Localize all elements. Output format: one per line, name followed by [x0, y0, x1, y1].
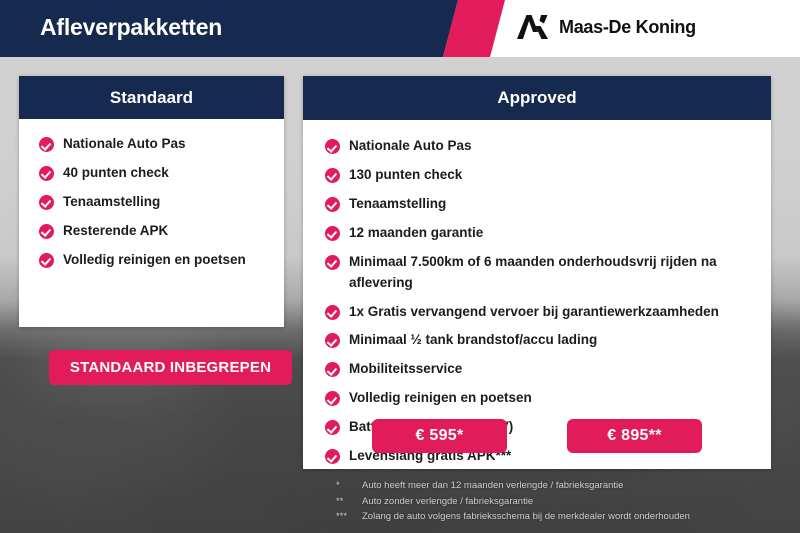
price-button-895[interactable]: € 895** [567, 419, 702, 453]
footnote-marker: ** [336, 494, 362, 510]
check-circle-icon [325, 139, 340, 154]
list-item: 40 punten check [39, 163, 284, 184]
check-circle-icon [39, 253, 54, 268]
footnote-row: *** Zolang de auto volgens fabrieksschem… [336, 509, 776, 525]
feature-label: Resterende APK [63, 221, 168, 242]
check-circle-icon [325, 197, 340, 212]
list-item: Volledig reinigen en poetsen [39, 250, 284, 271]
check-circle-icon [325, 168, 340, 183]
footnote-text: Zolang de auto volgens fabrieksschema bi… [362, 509, 776, 525]
feature-label: Tenaamstelling [349, 194, 446, 215]
card-title-approved: Approved [303, 76, 771, 120]
price-button-row: € 595* € 895** [303, 419, 771, 453]
check-circle-icon [39, 166, 54, 181]
brand-name: Maas-De Koning [559, 17, 696, 38]
feature-label: Mobiliteitsservice [349, 359, 462, 380]
package-card-standaard: Standaard Nationale Auto Pas 40 punten c… [19, 76, 284, 327]
list-item: Minimaal ½ tank brandstof/accu lading [325, 330, 771, 351]
list-item: Minimaal 7.500km of 6 maanden onderhouds… [325, 252, 771, 294]
check-circle-icon [325, 305, 340, 320]
list-item: Mobiliteitsservice [325, 359, 771, 380]
feature-label: 40 punten check [63, 163, 169, 184]
feature-label: Minimaal 7.500km of 6 maanden onderhouds… [349, 252, 771, 294]
list-item: Nationale Auto Pas [39, 134, 284, 155]
price-button-595[interactable]: € 595* [372, 419, 507, 453]
footnotes: * Auto heeft meer dan 12 maanden verleng… [336, 478, 776, 525]
list-item: 1x Gratis vervangend vervoer bij garanti… [325, 302, 771, 323]
feature-label: Nationale Auto Pas [349, 136, 472, 157]
feature-label: 1x Gratis vervangend vervoer bij garanti… [349, 302, 719, 323]
footnote-text: Auto zonder verlengde / fabrieksgarantie [362, 494, 776, 510]
list-item: Tenaamstelling [39, 192, 284, 213]
brand-logo: Maas-De Koning [516, 12, 696, 42]
card-body-standaard: Nationale Auto Pas 40 punten check Tenaa… [19, 119, 284, 271]
card-title-standaard: Standaard [19, 76, 284, 119]
footnote-row: ** Auto zonder verlengde / fabrieksgaran… [336, 494, 776, 510]
package-card-approved: Approved Nationale Auto Pas 130 punten c… [303, 76, 771, 469]
check-circle-icon [39, 137, 54, 152]
feature-list-approved: Nationale Auto Pas 130 punten check Tena… [303, 120, 771, 467]
list-item: Resterende APK [39, 221, 284, 242]
page-title: Afleverpakketten [40, 14, 222, 41]
list-item: 130 punten check [325, 165, 771, 186]
check-circle-icon [325, 226, 340, 241]
feature-label: Minimaal ½ tank brandstof/accu lading [349, 330, 597, 351]
check-circle-icon [325, 391, 340, 406]
footnote-row: * Auto heeft meer dan 12 maanden verleng… [336, 478, 776, 494]
feature-label: 130 punten check [349, 165, 462, 186]
card-body-approved: Nationale Auto Pas 130 punten check Tena… [303, 120, 771, 467]
check-circle-icon [325, 362, 340, 377]
check-circle-icon [39, 195, 54, 210]
list-item: Nationale Auto Pas [325, 136, 771, 157]
standaard-included-button[interactable]: STANDAARD INBEGREPEN [49, 350, 292, 385]
feature-label: Nationale Auto Pas [63, 134, 186, 155]
promo-graphic: Afleverpakketten Maas-De Koning Standaar… [0, 0, 800, 533]
footnote-marker: *** [336, 509, 362, 525]
list-item: Tenaamstelling [325, 194, 771, 215]
list-item: 12 maanden garantie [325, 223, 771, 244]
footnote-text: Auto heeft meer dan 12 maanden verlengde… [362, 478, 776, 494]
list-item: Volledig reinigen en poetsen [325, 388, 771, 409]
check-circle-icon [39, 224, 54, 239]
feature-label: Tenaamstelling [63, 192, 160, 213]
maas-de-koning-m-logo-icon [516, 12, 550, 42]
feature-list-standaard: Nationale Auto Pas 40 punten check Tenaa… [19, 119, 284, 271]
header-bar: Afleverpakketten Maas-De Koning [0, 0, 800, 57]
feature-label: Volledig reinigen en poetsen [349, 388, 532, 409]
check-circle-icon [325, 255, 340, 270]
check-circle-icon [325, 333, 340, 348]
feature-label: 12 maanden garantie [349, 223, 483, 244]
feature-label: Volledig reinigen en poetsen [63, 250, 246, 271]
footnote-marker: * [336, 478, 362, 494]
